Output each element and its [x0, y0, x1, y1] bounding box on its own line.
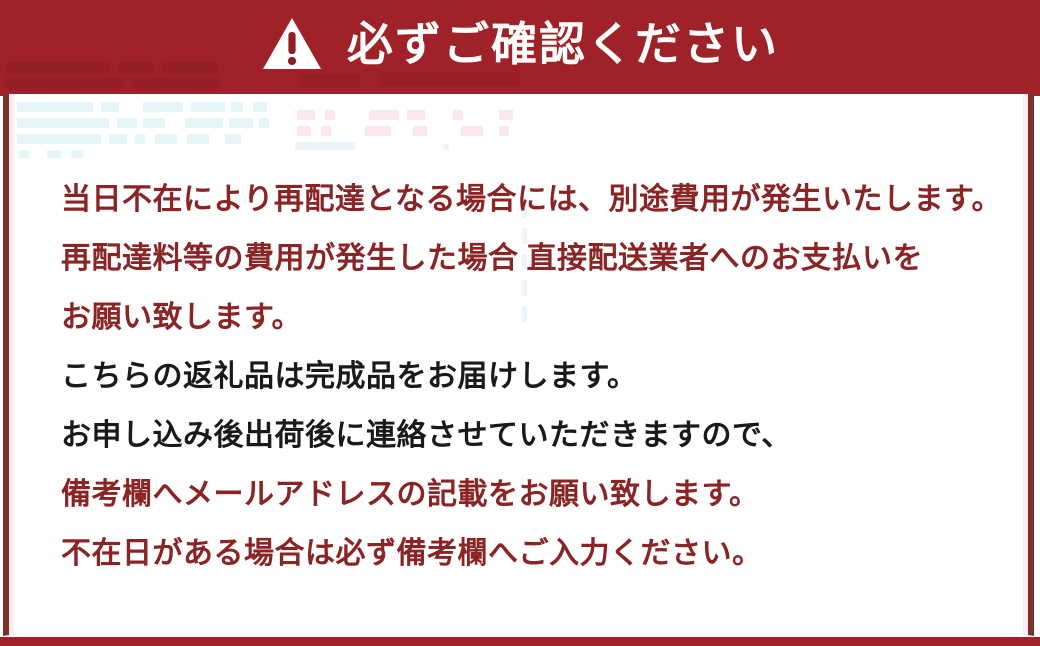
compression-artifact	[499, 110, 513, 120]
notice-line: こちらの返礼品は完成品をお届けします。	[61, 347, 1021, 406]
compression-artifact	[135, 134, 145, 144]
compression-artifact	[17, 134, 101, 144]
compression-artifact	[295, 142, 355, 150]
notice-panel: 当日不在により再配達となる場合には、別途費用が発生いたします。 再配達料等の費用…	[3, 94, 1034, 636]
notice-body: 当日不在により再配達となる場合には、別途費用が発生いたします。 再配達料等の費用…	[61, 170, 1021, 583]
compression-artifact	[143, 118, 165, 128]
compression-artifact	[143, 102, 183, 112]
compression-artifact	[117, 118, 137, 128]
compression-artifact	[443, 144, 449, 150]
compression-artifact	[297, 126, 311, 136]
compression-artifact	[297, 110, 315, 120]
compression-artifact	[187, 134, 209, 144]
panel-edge-left	[9, 94, 14, 635]
compression-artifact	[47, 150, 61, 158]
notice-line: 再配達料等の費用が発生した場合 直接配送業者へのお支払いを	[61, 229, 1021, 288]
compression-artifact	[413, 126, 427, 136]
compression-artifact	[369, 110, 399, 120]
compression-artifact	[253, 102, 267, 112]
compression-artifact	[155, 134, 177, 144]
compression-artifact	[453, 110, 463, 120]
notice-header-title: 必ずご確認ください	[347, 21, 779, 67]
compression-artifact	[499, 126, 509, 136]
compression-artifact	[461, 126, 483, 136]
compression-artifact	[321, 126, 331, 136]
compression-artifact	[229, 118, 253, 128]
notice-line: 備考欄へメールアドレスの記載をお願い致します。	[61, 465, 1021, 524]
compression-artifact	[109, 134, 127, 144]
notice-line: お申し込み後出荷後に連絡させていただきますので、	[61, 406, 1021, 465]
notice-banner: 必ずご確認ください	[0, 0, 1040, 646]
compression-artifact	[71, 150, 83, 158]
compression-artifact	[185, 118, 223, 128]
notice-line: お願い致します。	[61, 288, 1021, 347]
compression-artifact	[325, 110, 335, 120]
compression-artifact	[365, 126, 391, 136]
compression-artifact	[225, 134, 241, 144]
compression-artifact	[19, 150, 29, 158]
compression-artifact	[259, 118, 269, 128]
notice-footer-bar	[0, 637, 1040, 646]
compression-artifact	[101, 102, 119, 112]
warning-triangle-icon	[261, 16, 323, 72]
compression-artifact	[191, 102, 225, 112]
compression-artifact	[17, 102, 93, 112]
notice-line: 不在日がある場合は必ず備考欄へご入力ください。	[61, 524, 1021, 583]
compression-artifact	[17, 118, 109, 128]
compression-artifact	[231, 102, 243, 112]
notice-header: 必ずご確認ください	[0, 0, 1040, 96]
compression-artifact	[407, 110, 425, 120]
panel-edge-right	[1023, 94, 1028, 635]
notice-line: 当日不在により再配達となる場合には、別途費用が発生いたします。	[61, 170, 1021, 229]
